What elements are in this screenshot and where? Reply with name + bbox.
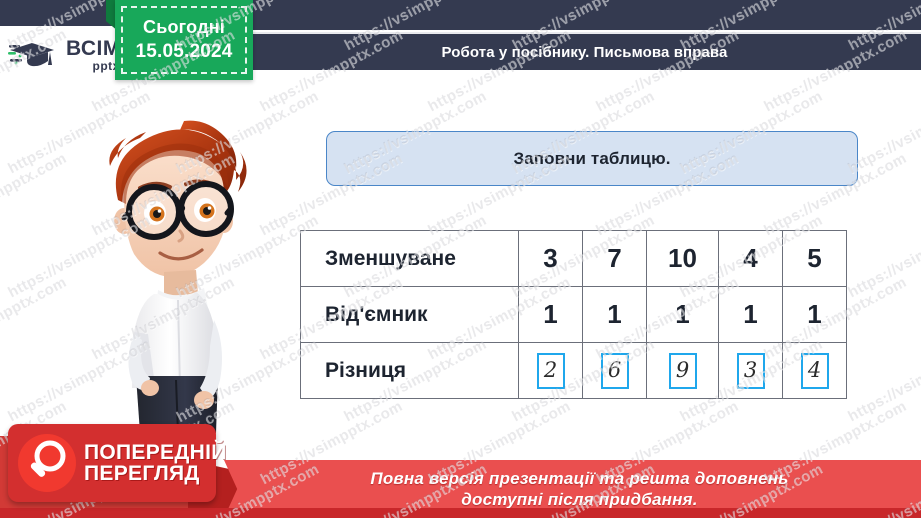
table-answer-cell[interactable]: 9 [647, 343, 719, 399]
table-value-cell: 5 [783, 231, 847, 287]
table-value-cell: 1 [783, 287, 847, 343]
table-body: Зменшуване371045Від'ємник11111Різниця269… [301, 231, 847, 399]
table-value-cell: 10 [647, 231, 719, 287]
answer-box[interactable]: 3 [737, 353, 765, 389]
answer-value: 3 [744, 360, 757, 381]
brand-logo[interactable]: ВСІМ pptx [0, 26, 118, 86]
answer-value: 9 [676, 360, 689, 381]
table-row: Різниця26934 [301, 343, 847, 399]
table-value-cell: 7 [583, 231, 647, 287]
table-answer-cell[interactable]: 2 [519, 343, 583, 399]
instruction-box: Заповни таблицю. [326, 131, 858, 186]
table-row-label: Від'ємник [301, 287, 519, 343]
date-badge: Сьогодні 15.05.2024 [106, 0, 253, 80]
instruction-text: Заповни таблицю. [513, 149, 670, 169]
answer-box[interactable]: 2 [537, 353, 565, 389]
table-row-label: Різниця [301, 343, 519, 399]
presentation-slide: ВСІМ pptx Сьогодні 15.05.2024 Робота у п… [0, 0, 921, 518]
answer-value: 2 [544, 360, 557, 381]
preview-line-1: ПОПЕРЕДНІЙ [84, 442, 227, 463]
table-value-cell: 3 [519, 231, 583, 287]
table-value-cell: 1 [647, 287, 719, 343]
table-value-cell: 1 [719, 287, 783, 343]
table-value-cell: 4 [719, 231, 783, 287]
table-answer-cell[interactable]: 3 [719, 343, 783, 399]
table-row: Від'ємник11111 [301, 287, 847, 343]
table-row-label: Зменшуване [301, 231, 519, 287]
table-answer-cell[interactable]: 6 [583, 343, 647, 399]
slide-title: Робота у посібнику. Письмова вправа [442, 44, 728, 61]
slide-title-bar: Робота у посібнику. Письмова вправа [248, 32, 921, 70]
preview-badge[interactable]: ПОПЕРЕДНІЙ ПЕРЕГЛЯД [8, 424, 216, 502]
preview-badge-text: ПОПЕРЕДНІЙ ПЕРЕГЛЯД [84, 442, 227, 485]
graduation-cap-icon [8, 39, 62, 73]
date-value: 15.05.2024 [135, 41, 232, 63]
banner-line-1: Повна версія презентації та решта доповн… [370, 469, 788, 489]
answer-value: 6 [608, 360, 621, 381]
banner-line-2: доступні після придбання. [461, 490, 697, 510]
date-badge-body: Сьогодні 15.05.2024 [115, 0, 253, 80]
table-row: Зменшуване371045 [301, 231, 847, 287]
preview-line-2: ПЕРЕГЛЯД [84, 463, 227, 484]
table-answer-cell[interactable]: 4 [783, 343, 847, 399]
magnifier-icon [18, 434, 76, 492]
table-value-cell: 1 [583, 287, 647, 343]
preview-icon-circle [18, 434, 76, 492]
subtraction-table: Зменшуване371045Від'ємник11111Різниця269… [300, 230, 847, 399]
answer-box[interactable]: 4 [801, 353, 829, 389]
cartoon-boy-with-glasses [88, 88, 288, 433]
date-label: Сьогодні [143, 17, 225, 38]
answer-value: 4 [808, 360, 821, 381]
answer-box[interactable]: 6 [601, 353, 629, 389]
answer-box[interactable]: 9 [669, 353, 697, 389]
table-value-cell: 1 [519, 287, 583, 343]
banner-bottom-strip [0, 508, 921, 518]
